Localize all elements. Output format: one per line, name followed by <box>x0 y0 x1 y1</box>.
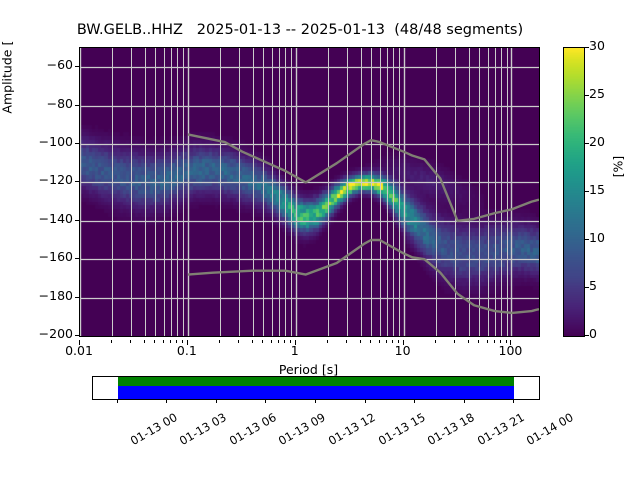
y-tick-mark <box>75 105 79 106</box>
data-coverage-blue <box>118 386 514 399</box>
x-tick-label: 100 <box>480 345 540 358</box>
x-tick-mark <box>111 340 112 343</box>
timeline-tick-label: 01-13 21 <box>475 410 527 448</box>
y-tick-label: −100 <box>27 136 73 149</box>
ppsd-density-plot[interactable] <box>79 47 540 337</box>
x-tick-mark <box>154 340 155 343</box>
y-tick-mark <box>75 143 79 144</box>
y-tick-mark <box>75 335 79 336</box>
colorbar-tick-label: 5 <box>589 280 629 293</box>
x-tick-mark <box>170 340 171 343</box>
x-tick-label: 10 <box>373 345 433 358</box>
x-axis-ticks: 0.010.1110100 <box>79 340 538 358</box>
colorbar-tick-mark <box>584 335 589 336</box>
x-tick-mark <box>500 340 501 343</box>
noise-model-curves <box>80 48 539 336</box>
x-tick-mark <box>468 340 469 343</box>
timeline-tick-mark <box>513 399 514 403</box>
x-tick-label: 0.1 <box>157 345 217 358</box>
timeline-tick-mark <box>216 399 217 403</box>
x-tick-mark <box>130 340 131 343</box>
colorbar-tick-mark <box>584 191 589 192</box>
noise-model-nhnm <box>188 134 539 220</box>
colorbar-tick-label: 10 <box>589 232 629 245</box>
timeline-tick-label: 01-13 18 <box>425 410 477 448</box>
colorbar-tick-mark <box>584 287 589 288</box>
x-tick-mark <box>219 340 220 343</box>
timeline-tick-label: 01-13 09 <box>276 410 328 448</box>
x-tick-mark <box>252 340 253 343</box>
y-tick-mark <box>75 66 79 67</box>
timeline-tick-mark <box>166 399 167 403</box>
x-tick-mark <box>182 340 183 343</box>
x-tick-mark <box>392 340 393 343</box>
colorbar-label: [%] <box>611 175 626 197</box>
x-tick-mark <box>506 340 507 343</box>
timeline-tick-mark <box>315 399 316 403</box>
x-tick-mark <box>386 340 387 343</box>
x-tick-mark <box>360 340 361 343</box>
x-tick-mark <box>79 340 80 345</box>
x-tick-mark <box>238 340 239 343</box>
x-tick-mark <box>144 340 145 343</box>
x-tick-mark <box>278 340 279 343</box>
timeline-tick-mark <box>365 399 366 403</box>
x-tick-mark <box>435 340 436 343</box>
x-tick-mark <box>346 340 347 343</box>
y-tick-label: −140 <box>27 213 73 226</box>
x-tick-mark <box>187 340 188 345</box>
timeline-tick-label: 01-13 15 <box>375 410 427 448</box>
data-coverage-timeline[interactable] <box>92 376 540 400</box>
x-tick-label: 0.01 <box>49 345 109 358</box>
timeline-tick-label: 01-13 12 <box>326 410 378 448</box>
y-tick-mark <box>75 258 79 259</box>
x-tick-mark <box>478 340 479 343</box>
noise-model-nlnm <box>188 240 539 313</box>
timeline-tick-mark <box>265 399 266 403</box>
x-tick-mark <box>284 340 285 343</box>
y-axis-label: Amplitude [m2/s4/Hz] [dB] <box>0 92 15 114</box>
x-tick-mark <box>403 340 404 345</box>
x-tick-mark <box>510 340 511 345</box>
x-tick-mark <box>487 340 488 343</box>
timeline-tick-mark <box>464 399 465 403</box>
colorbar-tick-mark <box>584 239 589 240</box>
y-tick-label: −60 <box>27 59 73 72</box>
colorbar-tick-mark <box>584 143 589 144</box>
y-tick-label: −80 <box>27 98 73 111</box>
timeline-tick-label: 01-13 06 <box>227 410 279 448</box>
x-tick-mark <box>379 340 380 343</box>
timeline-tick-mark <box>414 399 415 403</box>
x-tick-label: 1 <box>265 345 325 358</box>
ppsd-figure: BW.GELB..HHZ 2025-01-13 -- 2025-01-13 (4… <box>0 0 640 480</box>
colorbar-tick-mark <box>584 95 589 96</box>
y-tick-mark <box>75 220 79 221</box>
timeline-tick-label: 01-13 00 <box>128 410 180 448</box>
x-tick-mark <box>163 340 164 343</box>
timeline-tick-label: 01-14 00 <box>524 410 576 448</box>
x-tick-mark <box>327 340 328 343</box>
y-tick-label: −180 <box>27 290 73 303</box>
data-coverage-green <box>118 377 514 386</box>
y-axis-ticks: −60−80−100−120−140−160−180−200 <box>27 47 73 335</box>
x-tick-mark <box>295 340 296 345</box>
y-tick-label: −200 <box>27 328 73 341</box>
figure-title: BW.GELB..HHZ 2025-01-13 -- 2025-01-13 (4… <box>0 22 600 38</box>
x-tick-mark <box>398 340 399 343</box>
timeline-tick-mark <box>117 399 118 403</box>
y-tick-label: −160 <box>27 251 73 264</box>
timeline-ticks <box>92 399 540 409</box>
colorbar-tick-mark <box>584 47 589 48</box>
x-tick-mark <box>494 340 495 343</box>
x-tick-mark <box>290 340 291 343</box>
x-tick-mark <box>262 340 263 343</box>
timeline-tick-label: 01-13 03 <box>177 410 229 448</box>
y-tick-mark <box>75 181 79 182</box>
colorbar-tick-label: 30 <box>589 40 629 53</box>
y-tick-mark <box>75 297 79 298</box>
x-tick-mark <box>370 340 371 343</box>
x-tick-mark <box>271 340 272 343</box>
x-tick-mark <box>454 340 455 343</box>
colorbar-tick-label: 25 <box>589 88 629 101</box>
y-tick-label: −120 <box>27 174 73 187</box>
x-tick-mark <box>176 340 177 343</box>
colorbar-tick-label: 0 <box>589 328 629 341</box>
x-axis-label: Period [s] <box>79 362 538 377</box>
